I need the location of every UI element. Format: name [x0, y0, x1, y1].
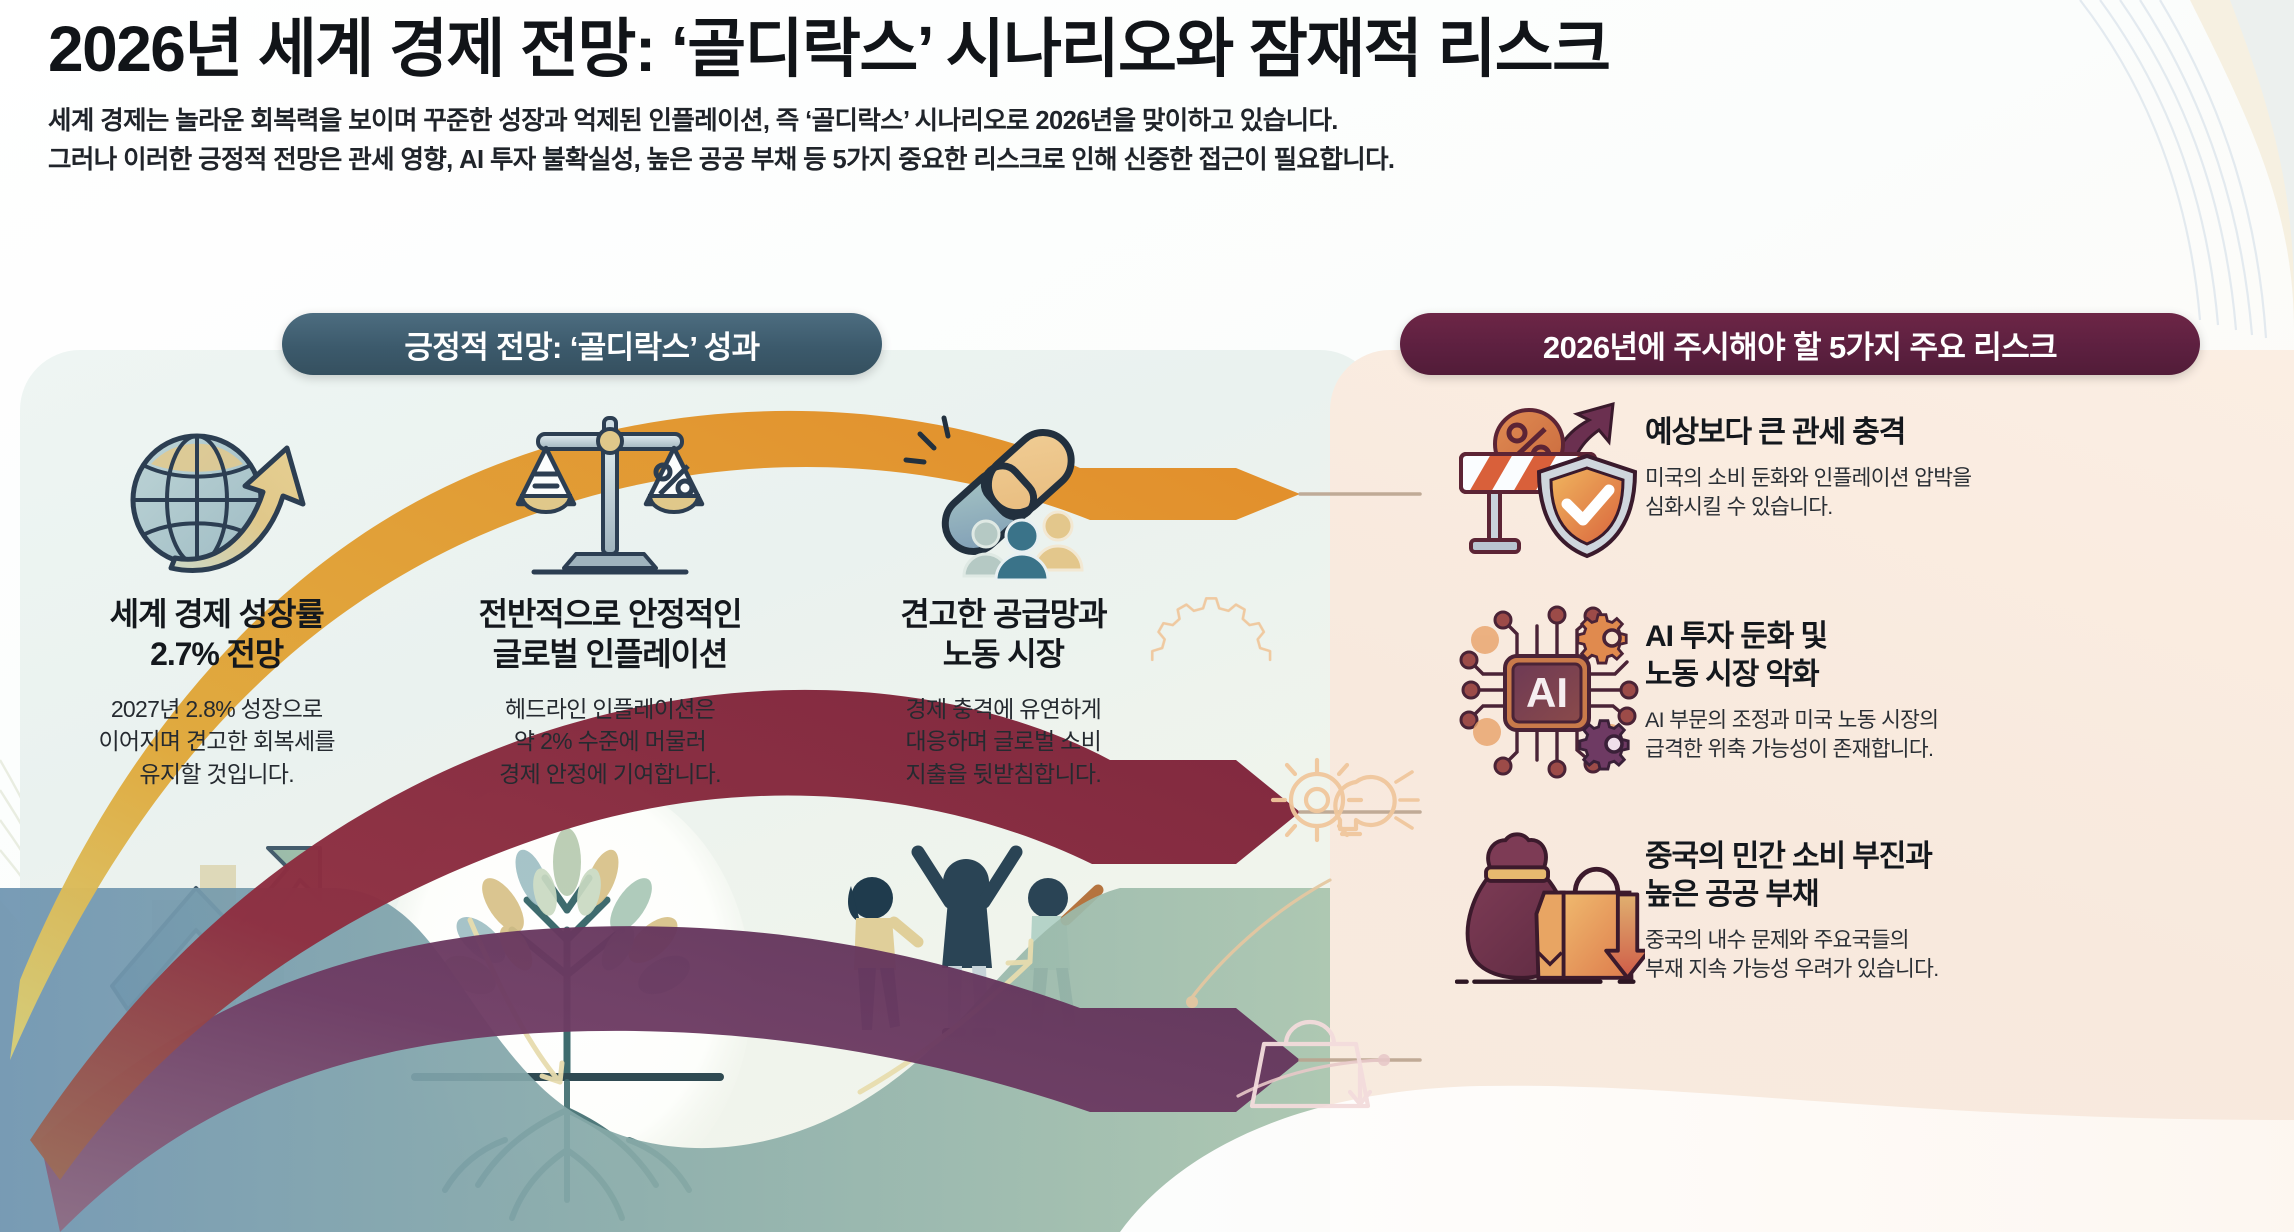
risk-list: 예상보다 큰 관세 충격 미국의 소비 둔화와 인플레이션 압박을 심화시킬 수… — [1455, 400, 2285, 1038]
ai-chip-circuit-icon: AI — [1455, 604, 1645, 780]
card-title-line2: 글로벌 인플레이션 — [493, 636, 728, 672]
risk-body: 중국의 내수 문제와 주요국들의 부재 지속 가능성 우려가 있습니다. — [1645, 926, 2285, 985]
left-panel-badge: 긍정적 전망: ‘골디락스’ 성과 — [282, 313, 882, 375]
risk-text: 중국의 민간 소비 부진과 높은 공공 부채 중국의 내수 문제와 주요국들의 … — [1645, 824, 2285, 985]
subtitle-line-1: 세계 경제는 놀라운 회복력을 보이며 꾸준한 성장과 억제된 인플레이션, 즉… — [48, 102, 2228, 141]
risk-title-line2: 노동 시장 악화 — [1645, 658, 1818, 691]
risk-title: 중국의 민간 소비 부진과 높은 공공 부채 — [1645, 838, 2285, 914]
globe-growth-arrow-icon — [111, 400, 323, 580]
card-body-line3: 지출을 뒷받침합니다. — [906, 761, 1102, 787]
risk-title-line1: AI 투자 둔화 및 — [1645, 620, 1827, 653]
card-body-line3: 유지할 것입니다. — [139, 761, 294, 787]
risk-title-line2: 높은 공공 부채 — [1645, 878, 1818, 911]
risk-text: 예상보다 큰 관세 충격 미국의 소비 둔화와 인플레이션 압박을 심화시킬 수… — [1645, 400, 2285, 523]
risk-body-line2: 부재 지속 가능성 우려가 있습니다. — [1645, 957, 1939, 981]
card-title-line1: 전반적으로 안정적인 — [479, 596, 742, 632]
card-title-line2: 2.7% 전망 — [150, 636, 283, 672]
risk-text: AI 투자 둔화 및 노동 시장 악화 AI 부문의 조정과 미국 노동 시장의… — [1645, 604, 2285, 765]
header: 2026년 세계 경제 전망: ‘골디락스’ 시나리오와 잠재적 리스크 세계 … — [48, 10, 2228, 180]
risk-title-line1: 예상보다 큰 관세 충격 — [1645, 416, 1905, 449]
risk-item-ai: AI AI 투자 둔화 및 노동 시장 악화 — [1455, 604, 2285, 780]
chain-link-people-icon — [898, 400, 1108, 580]
risk-item-tariff: 예상보다 큰 관세 충격 미국의 소비 둔화와 인플레이션 압박을 심화시킬 수… — [1455, 400, 2285, 560]
risk-body-line2: 급격한 위축 가능성이 존재합니다. — [1645, 737, 1933, 761]
risk-body-line1: AI 부문의 조정과 미국 노동 시장의 — [1645, 708, 1938, 732]
card-body-line1: 헤드라인 인플레이션은 — [505, 696, 715, 722]
positive-card-inflation: 전반적으로 안정적인 글로벌 인플레이션 헤드라인 인플레이션은 약 2% 수준… — [413, 400, 806, 820]
tariff-barrier-shield-icon — [1455, 400, 1645, 560]
infographic-canvas: 2026년 세계 경제 전망: ‘골디락스’ 시나리오와 잠재적 리스크 세계 … — [0, 0, 2294, 1232]
risk-body-line2: 심화시킬 수 있습니다. — [1645, 495, 1833, 519]
money-bag-shopping-down-icon — [1455, 824, 1645, 994]
right-panel-badge: 2026년에 주시해야 할 5가지 주요 리스크 — [1400, 313, 2200, 375]
card-title: 견고한 공급망과 노동 시장 — [900, 594, 1106, 675]
card-title-line1: 세계 경제 성장률 — [110, 596, 324, 632]
card-body: 2027년 2.8% 성장으로 이어지며 견고한 회복세를 유지할 것입니다. — [98, 693, 334, 791]
risk-body: 미국의 소비 둔화와 인플레이션 압박을 심화시킬 수 있습니다. — [1645, 464, 2285, 523]
risk-title: 예상보다 큰 관세 충격 — [1645, 414, 2285, 452]
card-body-line2: 대응하며 글로벌 소비 — [906, 728, 1102, 754]
card-title: 전반적으로 안정적인 글로벌 인플레이션 — [479, 594, 742, 675]
positive-card-growth: 세계 경제 성장률 2.7% 전망 2027년 2.8% 성장으로 이어지며 견… — [20, 400, 413, 820]
risk-body-line1: 미국의 소비 둔화와 인플레이션 압박을 — [1645, 466, 1971, 490]
page-subtitle: 세계 경제는 놀라운 회복력을 보이며 꾸준한 성장과 억제된 인플레이션, 즉… — [48, 102, 2228, 180]
balance-scale-percent-icon — [510, 400, 710, 580]
positive-cards: 세계 경제 성장률 2.7% 전망 2027년 2.8% 성장으로 이어지며 견… — [20, 400, 1200, 820]
card-body: 경제 충격에 유연하게 대응하며 글로벌 소비 지출을 뒷받침합니다. — [906, 693, 1102, 791]
card-body: 헤드라인 인플레이션은 약 2% 수준에 머물러 경제 안정에 기여합니다. — [499, 693, 721, 791]
positive-card-supplychain: 견고한 공급망과 노동 시장 경제 충격에 유연하게 대응하며 글로벌 소비 지… — [807, 400, 1200, 820]
risk-body: AI 부문의 조정과 미국 노동 시장의 급격한 위축 가능성이 존재합니다. — [1645, 706, 2285, 765]
card-body-line1: 2027년 2.8% 성장으로 — [111, 696, 323, 722]
card-title-line2: 노동 시장 — [943, 636, 1064, 672]
subtitle-line-2: 그러나 이러한 긍정적 전망은 관세 영향, AI 투자 불확실성, 높은 공공… — [48, 141, 2228, 180]
card-body-line2: 이어지며 견고한 회복세를 — [98, 728, 334, 754]
risk-title-line1: 중국의 민간 소비 부진과 — [1645, 840, 1932, 873]
svg-text:AI: AI — [1526, 669, 1568, 716]
risk-body-line1: 중국의 내수 문제와 주요국들의 — [1645, 928, 1909, 952]
risk-title: AI 투자 둔화 및 노동 시장 악화 — [1645, 618, 2285, 694]
card-body-line1: 경제 충격에 유연하게 — [906, 696, 1102, 722]
risk-item-china-debt: 중국의 민간 소비 부진과 높은 공공 부채 중국의 내수 문제와 주요국들의 … — [1455, 824, 2285, 994]
card-body-line2: 약 2% 수준에 머물러 — [514, 728, 706, 754]
card-title: 세계 경제 성장률 2.7% 전망 — [110, 594, 324, 675]
card-title-line1: 견고한 공급망과 — [900, 596, 1106, 632]
card-body-line3: 경제 안정에 기여합니다. — [499, 761, 721, 787]
page-title: 2026년 세계 경제 전망: ‘골디락스’ 시나리오와 잠재적 리스크 — [48, 10, 2228, 88]
